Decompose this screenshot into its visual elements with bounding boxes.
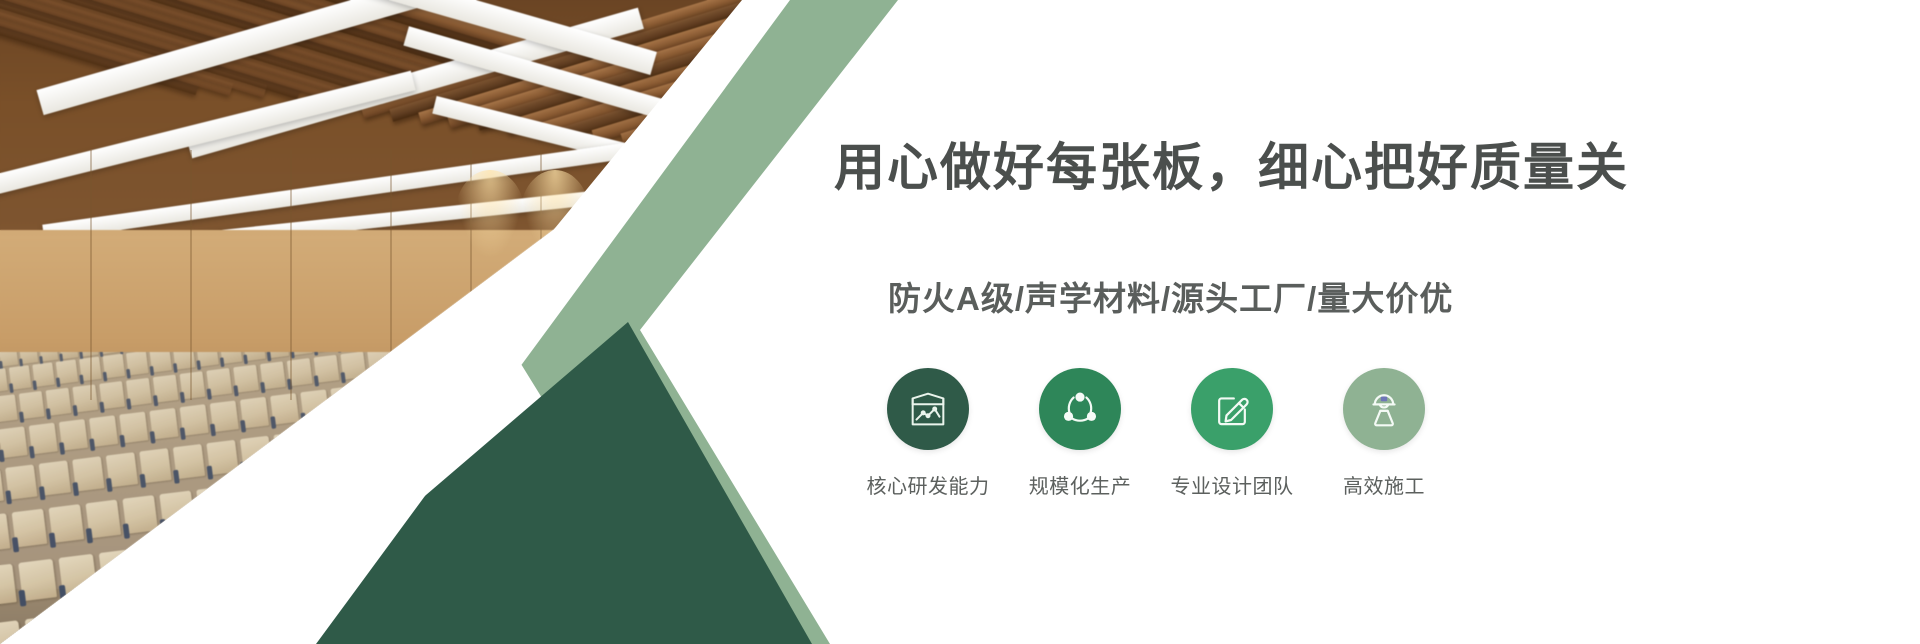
auditorium-seat xyxy=(19,352,38,364)
feature-item-construction[interactable]: 高效施工 xyxy=(1322,368,1446,499)
auditorium-seat xyxy=(0,394,18,422)
auditorium-seat xyxy=(233,481,269,520)
auditorium-seat xyxy=(19,391,45,419)
auditorium-seat xyxy=(59,419,88,451)
auditorium-seat xyxy=(39,352,58,362)
auditorium-seat xyxy=(112,604,154,644)
auditorium-seat xyxy=(313,352,336,353)
auditorium-seat xyxy=(240,397,269,429)
auditorium-seat xyxy=(196,486,232,525)
auditorium-seat xyxy=(196,352,219,367)
auditorium-seat xyxy=(314,355,340,383)
auditorium-seat xyxy=(0,564,17,606)
auditorium-seat xyxy=(206,368,232,396)
auditorium-seat xyxy=(273,432,305,467)
auditorium-seat xyxy=(5,464,37,499)
wall-panel-seam xyxy=(390,150,392,400)
auditorium-seat xyxy=(99,381,125,409)
network-nodes-icon xyxy=(1058,387,1102,431)
auditorium-seat xyxy=(341,423,373,458)
auditorium-seat xyxy=(106,452,138,487)
box-chart-icon xyxy=(905,386,951,432)
content-panel: 用心做好每张板，细心把好质量关 防火A级/声学材料/源头工厂/量大价优 xyxy=(826,0,1826,644)
auditorium-seat xyxy=(126,378,152,406)
auditorium-seat xyxy=(9,365,32,390)
feature-icon-circle-production xyxy=(1039,368,1121,450)
auditorium-seat xyxy=(99,549,138,591)
auditorium-seat xyxy=(18,559,57,601)
auditorium-seat xyxy=(72,456,104,491)
auditorium-seat xyxy=(270,393,299,425)
auditorium-seat xyxy=(103,354,126,379)
auditorium-seat xyxy=(149,352,172,373)
auditorium-seat xyxy=(25,615,67,644)
auditorium-seat xyxy=(180,404,209,436)
feature-item-rd[interactable]: 核心研发能力 xyxy=(866,368,990,499)
wall-wash-light xyxy=(455,170,525,260)
auditorium-seat xyxy=(0,426,28,458)
auditorium-seat xyxy=(49,504,85,543)
feature-icon-circle-design xyxy=(1191,368,1273,450)
auditorium-seat xyxy=(159,490,195,529)
auditorium-seat xyxy=(179,539,218,581)
auditorium-seat xyxy=(220,352,243,364)
auditorium-seat xyxy=(270,477,306,516)
auditorium-seat xyxy=(361,382,390,414)
auditorium-seat xyxy=(46,388,72,416)
auditorium-seat xyxy=(59,352,78,359)
auditorium-seat xyxy=(173,352,196,370)
auditorium-seat xyxy=(240,436,272,471)
auditorium-seat xyxy=(367,352,393,376)
auditorium-seat xyxy=(290,352,313,355)
auditorium-seat xyxy=(0,469,4,504)
wall-panel-seam xyxy=(290,150,292,400)
auditorium-seat xyxy=(0,513,10,552)
auditorium-seat xyxy=(29,423,58,455)
feature-icon-circle-rd xyxy=(887,368,969,450)
auditorium-seat xyxy=(58,554,97,596)
construction-worker-icon xyxy=(1362,387,1406,431)
auditorium-seat xyxy=(0,368,8,393)
feature-list: 核心研发能力 规模化生产 xyxy=(866,368,1446,499)
auditorium-seat xyxy=(220,534,259,576)
auditorium-seat xyxy=(206,440,238,475)
wall-panel-seam xyxy=(190,150,192,400)
auditorium-seat xyxy=(156,599,198,644)
feature-label-rd: 核心研发能力 xyxy=(867,470,990,499)
auditorium-seat xyxy=(39,460,71,495)
auditorium-seat xyxy=(394,352,420,373)
auditorium-seat xyxy=(307,427,339,462)
feature-label-construction: 高效施工 xyxy=(1343,470,1425,499)
feature-label-design: 专业设计团队 xyxy=(1171,470,1294,499)
auditorium-seat xyxy=(340,352,366,380)
auditorium-seat xyxy=(153,374,179,402)
page-title: 用心做好每张板，细心把好质量关 xyxy=(834,126,1814,200)
auditorium-seat xyxy=(0,352,18,367)
feature-label-production: 规模化生产 xyxy=(1029,470,1132,499)
auditorium-seat xyxy=(173,444,205,479)
auditorium-seat xyxy=(122,495,158,534)
auditorium-seat xyxy=(85,500,121,539)
auditorium-seat xyxy=(300,389,329,421)
auditorium-seat xyxy=(12,509,48,548)
feature-item-production[interactable]: 规模化生产 xyxy=(1018,368,1142,499)
auditorium-seat xyxy=(119,412,148,444)
auditorium-seat xyxy=(139,448,171,483)
wall-panel-seam xyxy=(90,150,92,400)
auditorium-seat xyxy=(180,371,206,399)
auditorium-seat xyxy=(89,415,118,447)
auditorium-seat xyxy=(149,408,178,440)
auditorium-seat xyxy=(260,361,286,389)
auditorium-seat xyxy=(233,365,259,393)
auditorium-seat xyxy=(56,359,79,384)
auditorium-seat xyxy=(126,352,149,376)
auditorium-seat xyxy=(32,362,55,387)
auditorium-seat xyxy=(243,352,266,361)
subtitle: 防火A级/声学材料/源头工厂/量大价优 xyxy=(888,272,1788,320)
pencil-edit-icon xyxy=(1210,387,1254,431)
auditorium-seat xyxy=(210,400,239,432)
auditorium-seat xyxy=(139,544,178,586)
auditorium-seat xyxy=(330,386,359,418)
auditorium-seat xyxy=(68,610,110,644)
auditorium-seat xyxy=(0,620,23,644)
feature-item-design[interactable]: 专业设计团队 xyxy=(1170,368,1294,499)
promo-banner: 用心做好每张板，细心把好质量关 防火A级/声学材料/源头工厂/量大价优 xyxy=(0,0,1920,644)
feature-icon-circle-construction xyxy=(1343,368,1425,450)
auditorium-seat xyxy=(72,384,98,412)
auditorium-seat xyxy=(266,352,289,358)
